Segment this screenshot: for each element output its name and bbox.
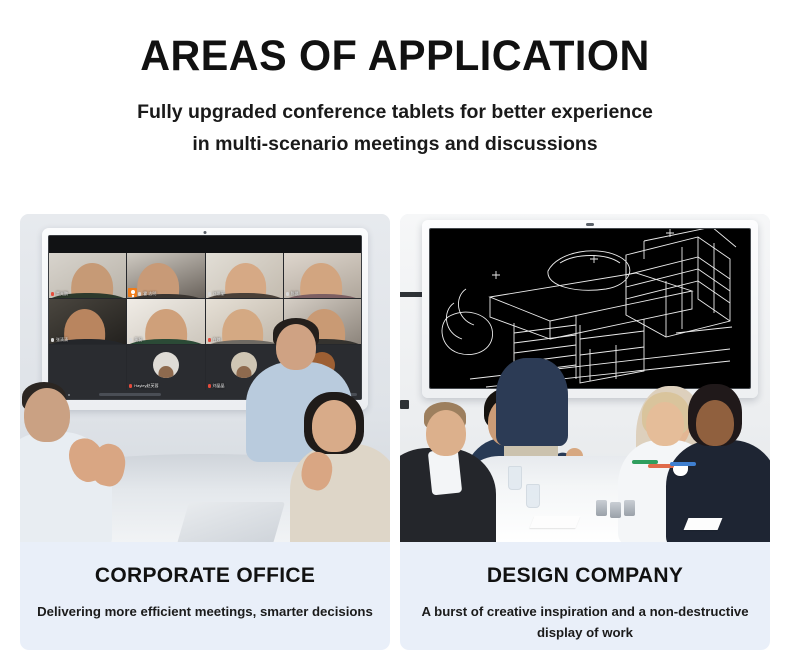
person-applauding-right	[274, 392, 390, 542]
camera-icon	[586, 223, 594, 226]
document	[530, 516, 581, 528]
panel-screen	[429, 228, 751, 389]
participant-tile[interactable]: 霍 志明	[127, 253, 204, 298]
container	[596, 500, 607, 516]
participant-tile[interactable]: 陈晨	[284, 253, 361, 298]
mic-muted-icon	[208, 338, 211, 342]
caption-line: display of work	[414, 622, 756, 643]
caption-text: Delivering more efficient meetings, smar…	[34, 601, 376, 622]
participant-name: 白婷	[208, 338, 221, 342]
card-design-company[interactable]: DESIGN COMPANY A burst of creative inspi…	[400, 214, 770, 650]
avatar	[231, 352, 257, 378]
participant-name: 陈晨	[286, 292, 299, 296]
subtitle-line-2: in multi-scenario meetings and discussio…	[0, 129, 790, 161]
participant-tile[interactable]: 黄磊	[127, 299, 204, 344]
mic-icon	[129, 338, 132, 342]
camera-icon	[204, 231, 207, 234]
mic-icon	[208, 292, 211, 296]
person-applauding-left	[20, 382, 142, 542]
caption-title: CORPORATE OFFICE	[34, 564, 376, 588]
mic-icon	[138, 292, 141, 296]
speaking-badge-icon	[128, 288, 137, 297]
participant-name: 董光鹏	[51, 292, 68, 296]
interactive-flat-panel-device	[422, 220, 758, 398]
container	[610, 502, 621, 518]
video-call-topbar	[49, 236, 361, 253]
participant-name: 霍 志明	[138, 292, 156, 296]
avatar	[153, 352, 179, 378]
design-company-photo	[400, 214, 770, 542]
container	[624, 500, 635, 516]
laptop	[177, 502, 285, 542]
page-header: AREAS OF APPLICATION Fully upgraded conf…	[0, 0, 790, 160]
subtitle-line-1: Fully upgraded conference tablets for be…	[0, 97, 790, 129]
card-corporate-office[interactable]: 董光鹏 霍 志明	[20, 214, 390, 650]
participant-name: 刘晶晶	[208, 384, 225, 388]
mic-icon	[286, 292, 289, 296]
page-title: AREAS OF APPLICATION	[16, 34, 774, 79]
caption-text: A burst of creative inspiration and a no…	[414, 601, 756, 644]
caption-line: A burst of creative inspiration and a no…	[414, 601, 756, 622]
page-subtitle: Fully upgraded conference tablets for be…	[0, 97, 790, 160]
participant-tile[interactable]: 刘思丽	[206, 253, 283, 298]
participant-tile[interactable]: 董光鹏	[49, 253, 126, 298]
document	[684, 518, 723, 530]
mic-icon	[51, 338, 54, 342]
mic-muted-icon	[208, 384, 211, 388]
caption-title: DESIGN COMPANY	[414, 564, 756, 588]
card-caption: DESIGN COMPANY A burst of creative inspi…	[400, 542, 770, 644]
mic-muted-icon	[51, 292, 54, 296]
card-caption: CORPORATE OFFICE Delivering more efficie…	[20, 542, 390, 622]
wall-mount-bracket	[400, 292, 422, 297]
participant-name: 张清清	[51, 338, 68, 342]
boardroom-foreground	[400, 392, 770, 542]
person-seated-left	[400, 400, 506, 542]
caption-line: Delivering more efficient meetings, smar…	[34, 601, 376, 622]
water-glass	[508, 466, 522, 490]
participant-name: 黄磊	[129, 338, 142, 342]
marker-pen	[670, 462, 696, 466]
application-cards: 董光鹏 霍 志明	[20, 214, 770, 650]
corporate-office-photo: 董光鹏 霍 志明	[20, 214, 390, 542]
architectural-wireframe-sketch	[430, 229, 750, 389]
water-glass	[526, 484, 540, 508]
participant-tile[interactable]: 张清清	[49, 299, 126, 344]
participant-name: 刘思丽	[208, 292, 225, 296]
